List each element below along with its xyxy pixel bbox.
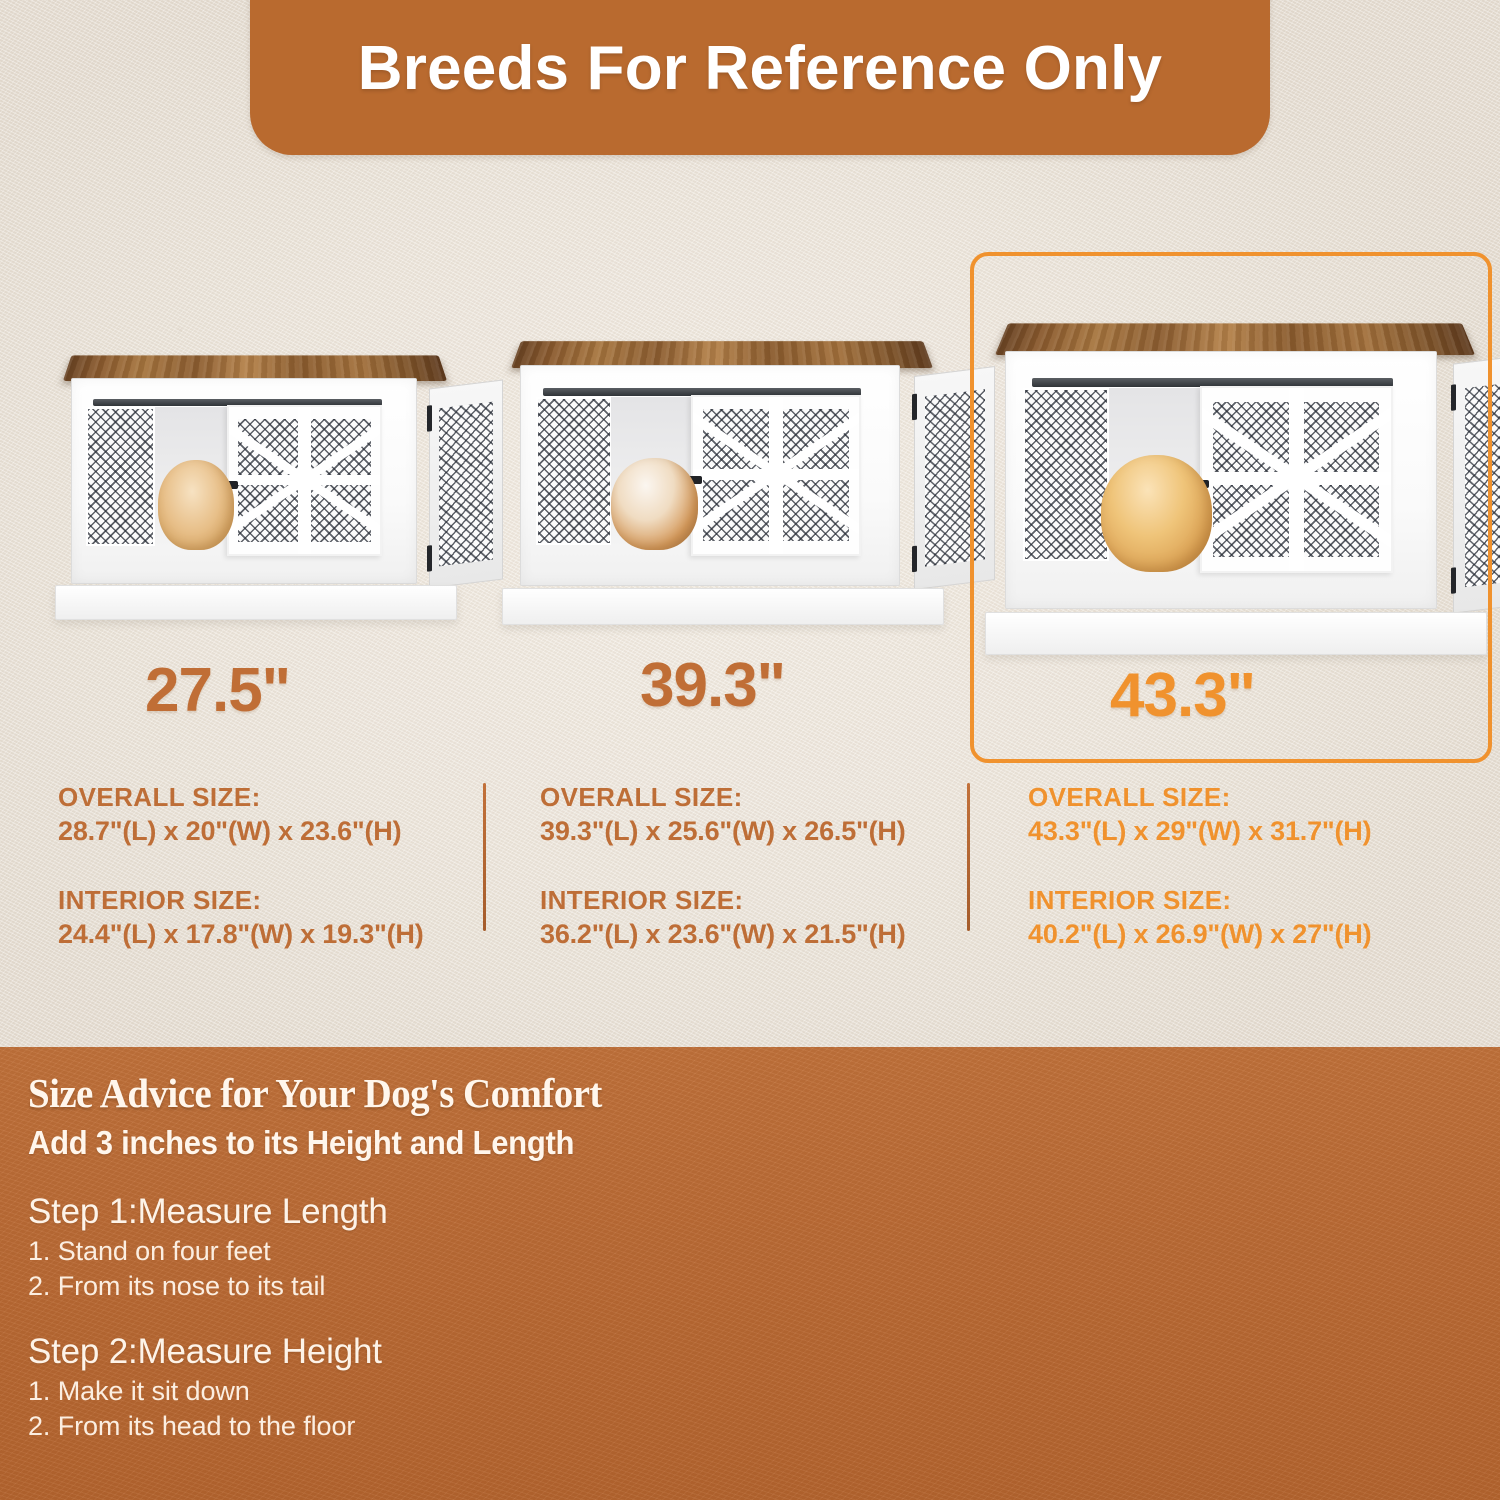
crate-base-plinth (55, 585, 457, 620)
dog-small-poodle (158, 460, 234, 550)
crate-base-plinth (502, 588, 944, 625)
advice-title: Size Advice for Your Dog's Comfort (28, 1069, 807, 1117)
spec-column-small: OVERALL SIZE: 28.7"(L) x 20"(W) x 23.6"(… (58, 782, 498, 950)
overall-size-label: OVERALL SIZE: (58, 782, 498, 813)
interior-size-value: 36.2"(L) x 23.6"(W) x 21.5"(H) (540, 919, 980, 950)
crate-image-medium (502, 330, 942, 625)
crate-image-small (55, 345, 455, 620)
step-1-line-1: 1. Stand on four feet (28, 1236, 848, 1267)
size-headline-medium: 39.3" (640, 650, 785, 721)
interior-size-label: INTERIOR SIZE: (540, 885, 980, 916)
overall-size-value: 28.7"(L) x 20"(W) x 23.6"(H) (58, 816, 498, 847)
interior-size-label: INTERIOR SIZE: (58, 885, 498, 916)
size-advice-panel: Size Advice for Your Dog's Comfort Add 3… (0, 1047, 1500, 1500)
mesh-panel-left (536, 397, 612, 545)
sliding-barn-door (691, 395, 861, 556)
mesh-panel-left (86, 407, 155, 545)
advice-subtitle: Add 3 inches to its Height and Length (28, 1124, 799, 1162)
interior-size-value: 40.2"(L) x 26.9"(W) x 27"(H) (1028, 919, 1468, 950)
spec-column-medium: OVERALL SIZE: 39.3"(L) x 25.6"(W) x 26.5… (540, 782, 980, 950)
crate-wood-top (511, 341, 933, 368)
overall-size-value: 43.3"(L) x 29"(W) x 31.7"(H) (1028, 816, 1468, 847)
step-2-title: Step 2:Measure Height (28, 1332, 848, 1372)
step-2-line-1: 1. Make it sit down (28, 1376, 848, 1407)
header-banner: Breeds For Reference Only (250, 0, 1270, 155)
step-1-block: Step 1:Measure Length 1. Stand on four f… (28, 1192, 848, 1302)
dog-beagle (611, 458, 698, 550)
step-2-block: Step 2:Measure Height 1. Make it sit dow… (28, 1332, 848, 1442)
interior-size-value: 24.4"(L) x 17.8"(W) x 19.3"(H) (58, 919, 498, 950)
crate-body (71, 378, 417, 584)
crate-wood-top (63, 355, 447, 380)
size-headline-small: 27.5" (145, 655, 290, 726)
step-1-title: Step 1:Measure Length (28, 1192, 848, 1232)
crate-body (520, 365, 900, 585)
crate-side-panel (429, 379, 503, 588)
overall-size-label: OVERALL SIZE: (1028, 782, 1468, 813)
advice-text-block: Size Advice for Your Dog's Comfort Add 3… (28, 1069, 848, 1442)
overall-size-label: OVERALL SIZE: (540, 782, 980, 813)
overall-size-value: 39.3"(L) x 25.6"(W) x 26.5"(H) (540, 816, 980, 847)
step-1-line-2: 2. From its nose to its tail (28, 1271, 848, 1302)
interior-size-label: INTERIOR SIZE: (1028, 885, 1468, 916)
step-2-line-2: 2. From its head to the floor (28, 1411, 848, 1442)
sliding-barn-door (227, 405, 382, 556)
spec-column-large: OVERALL SIZE: 43.3"(L) x 29"(W) x 31.7"(… (1028, 782, 1468, 950)
selected-size-highlight (970, 252, 1492, 763)
page-title: Breeds For Reference Only (358, 33, 1162, 112)
